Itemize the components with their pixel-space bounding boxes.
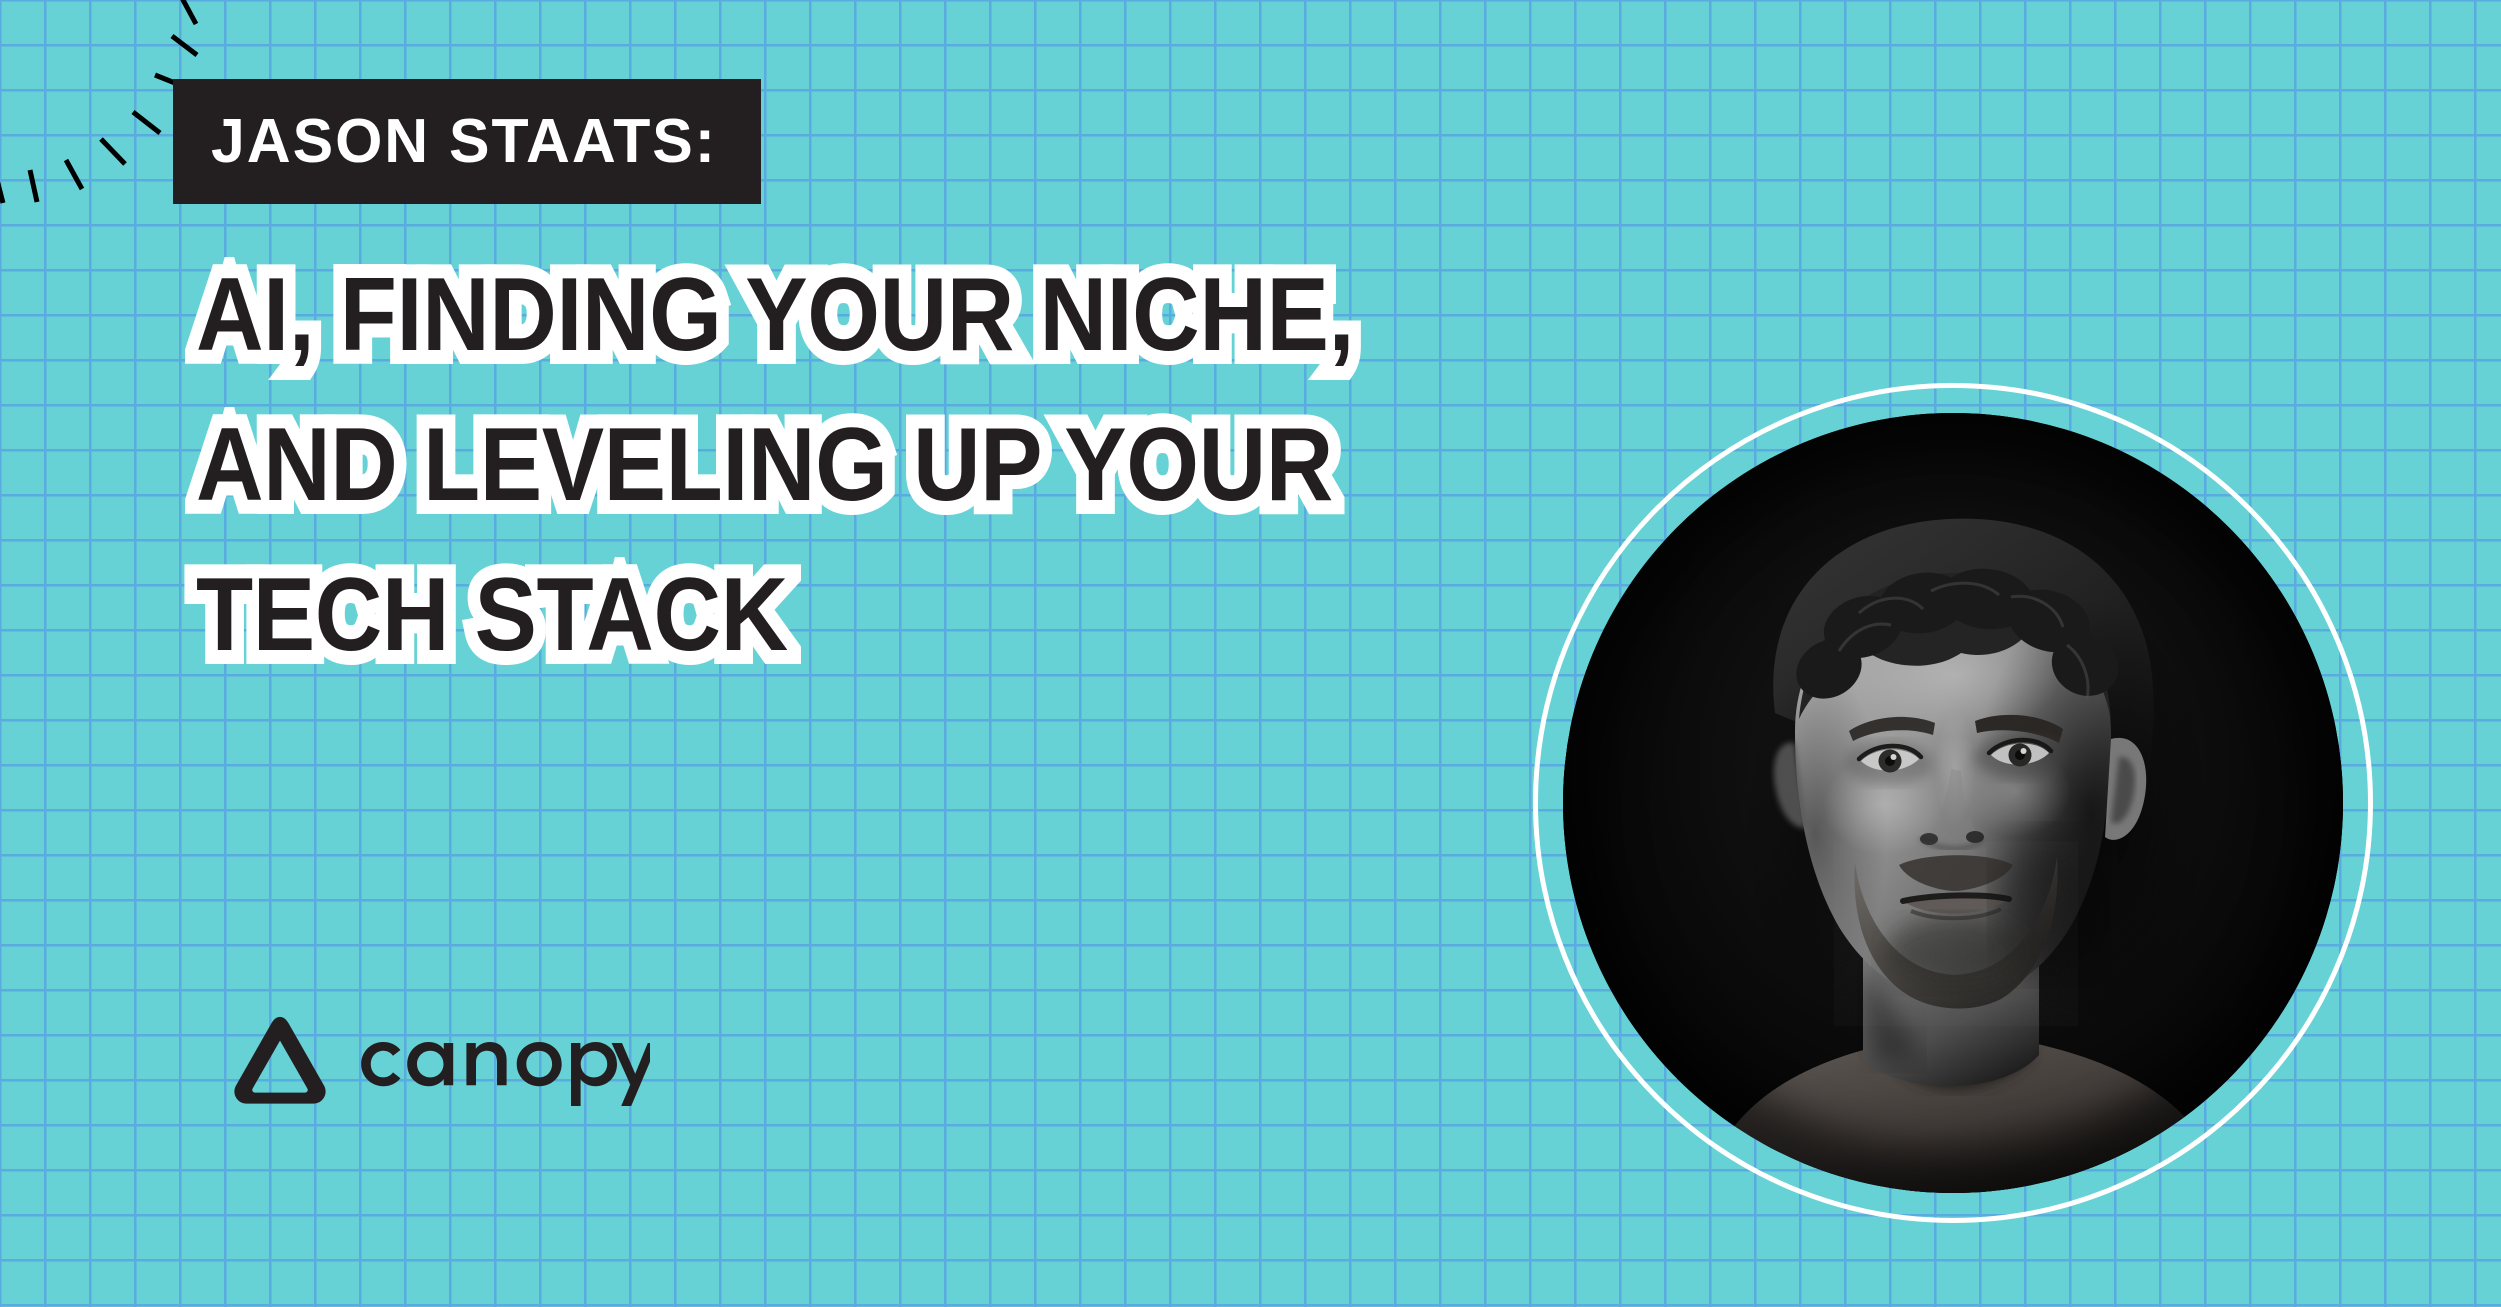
page-title: AI, FINDING YOUR NICHE, AND LEVELING UP … [196,262,1656,668]
promo-graphic: JASON STAATS: AI, FINDING YOUR NICHE, AN… [0,0,2501,1307]
speaker-portrait [1533,383,2373,1223]
canopy-wordmark [350,1016,650,1110]
speaker-label-text: JASON STAATS: [211,111,717,173]
headline-line-1: AI, FINDING YOUR NICHE, [196,262,1510,368]
canopy-logo [232,1016,650,1110]
headline-line-2: AND LEVELING UP YOUR [196,412,1510,518]
canopy-triangle-icon [232,1016,328,1110]
headline-line-3: TECH STACK [196,562,1510,668]
portrait-photo [1563,413,2343,1193]
speaker-label-badge: JASON STAATS: [173,79,761,204]
